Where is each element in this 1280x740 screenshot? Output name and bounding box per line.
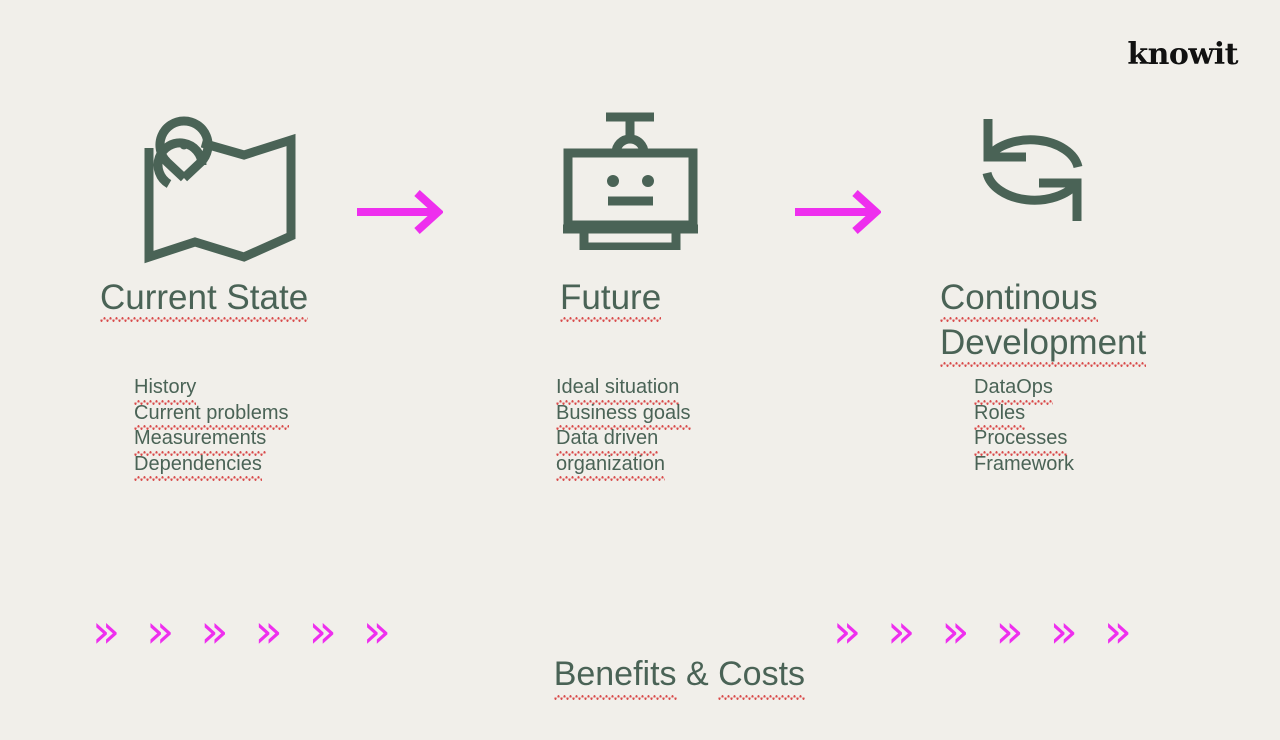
double-chevron-icon: » <box>887 600 915 662</box>
list-item: Business goals <box>556 401 800 427</box>
double-chevron-icon: » <box>254 600 282 662</box>
arrow-right-icon <box>793 190 881 234</box>
knowit-logo: knowit <box>1127 40 1238 70</box>
chevron-row-right: » » » » » » <box>833 600 1132 662</box>
list-item: Measurements <box>134 426 392 452</box>
column-title-line: Current State <box>100 275 308 320</box>
column-title-continous-development: Continous Development <box>890 275 1220 365</box>
list-item: Roles <box>974 401 1220 427</box>
double-chevron-icon: » <box>92 600 120 662</box>
list-item: History <box>134 375 392 401</box>
list-item-label: Measurements <box>134 426 266 452</box>
list-item-label: Dependencies <box>134 452 262 478</box>
list-item: Processes <box>974 426 1220 452</box>
column-list-current-state: History Current problems Measurements De… <box>62 375 392 477</box>
column-title-future: Future <box>470 275 800 320</box>
column-title-line: Future <box>560 275 661 320</box>
column-title-line: Continous <box>940 275 1098 320</box>
list-item: organization <box>556 452 800 478</box>
list-item-label: organization <box>556 452 665 478</box>
list-item-label: Framework <box>974 453 1074 475</box>
column-continous-development: Continous Development DataOps Roles Proc… <box>890 105 1220 477</box>
column-title-line: Development <box>940 320 1146 365</box>
double-chevron-icon: » <box>1104 600 1132 662</box>
column-list-continous-development: DataOps Roles Processes Framework <box>890 375 1220 477</box>
list-item-label: Business goals <box>556 401 691 427</box>
double-chevron-icon: » <box>1050 600 1078 662</box>
list-item-label: History <box>134 375 196 401</box>
map-pin-icon <box>62 105 392 270</box>
arrow-right-icon <box>355 190 443 234</box>
double-chevron-icon: » <box>363 600 391 662</box>
list-item-label: Current problems <box>134 401 289 427</box>
list-item: Ideal situation <box>556 375 800 401</box>
bottom-title: Benefits & Costs <box>497 608 805 740</box>
double-chevron-icon: » <box>995 600 1023 662</box>
list-item-label: Ideal situation <box>556 375 679 401</box>
column-current-state: Current State History Current problems M… <box>62 105 392 477</box>
list-item: Current problems <box>134 401 392 427</box>
double-chevron-icon: » <box>309 600 337 662</box>
chevron-row-left: » » » » » » <box>92 600 391 662</box>
bottom-band: » » » » » » Benefits & Costs » » » » » » <box>0 600 1280 670</box>
list-item-label: Data driven <box>556 426 658 452</box>
column-list-future: Ideal situation Business goals Data driv… <box>470 375 800 477</box>
refresh-cycle-icon <box>890 105 1220 270</box>
list-item-label: DataOps <box>974 375 1053 401</box>
bottom-title-word: Costs <box>718 652 805 696</box>
double-chevron-icon: » <box>833 600 861 662</box>
slide-canvas: knowit Current State History <box>0 0 1280 720</box>
column-future: Future Ideal situation Business goals Da… <box>470 105 800 477</box>
double-chevron-icon: » <box>146 600 174 662</box>
list-item-label: Roles <box>974 401 1025 427</box>
double-chevron-icon: » <box>941 600 969 662</box>
list-item-label: Processes <box>974 426 1067 452</box>
robot-icon <box>470 105 800 270</box>
bottom-title-word: Benefits <box>554 652 677 696</box>
double-chevron-icon: » <box>200 600 228 662</box>
bottom-title-amp: & <box>677 655 719 693</box>
list-item: DataOps <box>974 375 1220 401</box>
column-title-current-state: Current State <box>62 275 392 320</box>
